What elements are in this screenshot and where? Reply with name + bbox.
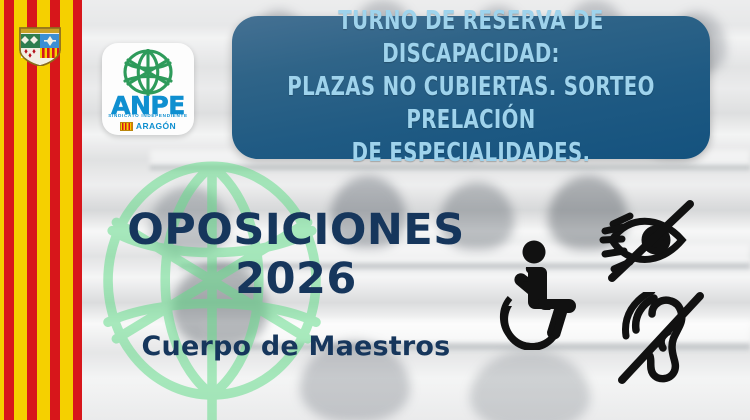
anpe-globe-icon	[121, 49, 175, 96]
aragon-flag	[0, 0, 82, 420]
anpe-logo[interactable]: ANPE SINDICATO INDEPENDIENTE ARAGÓN	[102, 43, 194, 135]
aragon-coat-of-arms-icon	[17, 24, 63, 66]
poster-canvas: ANPE SINDICATO INDEPENDIENTE ARAGÓN TURN…	[0, 0, 750, 420]
wheelchair-accessibility-icon	[496, 240, 580, 350]
exam-year: 2026	[96, 254, 496, 306]
aragon-mini-flag-icon	[120, 122, 133, 131]
page-title: OPOSICIONES	[96, 208, 496, 254]
headline-block: OPOSICIONES 2026 Cuerpo de Maestros	[96, 208, 496, 362]
anpe-tagline: SINDICATO INDEPENDIENTE	[102, 113, 194, 118]
anpe-region-label: ARAGÓN	[136, 121, 176, 131]
headline-banner: TURNO DE RESERVA DE DISCAPACIDAD: PLAZAS…	[232, 16, 710, 159]
banner-text: TURNO DE RESERVA DE DISCAPACIDAD: PLAZAS…	[279, 5, 663, 171]
no-vision-crossed-eye-icon	[598, 196, 698, 284]
anpe-region-row: ARAGÓN	[102, 121, 194, 131]
corps-subtitle: Cuerpo de Maestros	[96, 331, 496, 362]
no-hearing-crossed-ear-icon	[614, 292, 706, 388]
